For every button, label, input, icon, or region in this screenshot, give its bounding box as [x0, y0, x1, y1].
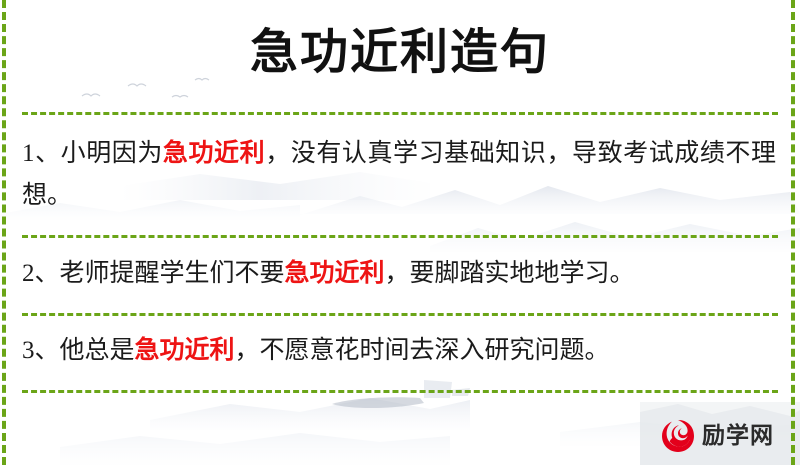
- sentence-item-2: 2、老师提醒学生们不要急功近利，要脚踏实地地学习。: [22, 253, 776, 295]
- keyword-highlight-1: 急功近利: [163, 140, 265, 167]
- divider-between-2-3: [22, 313, 778, 316]
- sentence-text-before-3: 他总是: [60, 337, 135, 364]
- sentence-index-1: 1、: [22, 140, 61, 167]
- site-logo[interactable]: 励学网: [660, 414, 782, 458]
- divider-top: [22, 112, 778, 115]
- sentence-index-3: 3、: [22, 337, 60, 364]
- divider-between-1-2: [22, 235, 778, 238]
- sentence-text-before-2: 老师提醒学生们不要: [60, 260, 285, 287]
- page-title: 急功近利造句: [0, 22, 800, 82]
- sentence-index-2: 2、: [22, 260, 60, 287]
- sentence-item-1: 1、小明因为急功近利，没有认真学习基础知识，导致考试成绩不理想。: [22, 133, 776, 217]
- site-logo-text: 励学网: [702, 425, 774, 448]
- keyword-highlight-3: 急功近利: [135, 337, 235, 364]
- sentence-item-3: 3、他总是急功近利，不愿意花时间去深入研究问题。: [22, 330, 776, 372]
- swirl-flame-icon: [660, 418, 696, 454]
- worksheet-page: 急功近利造句 1、小明因为急功近利，没有认真学习基础知识，导致考试成绩不理想。 …: [0, 0, 800, 465]
- sentence-text-after-2: ，要脚踏实地地学习。: [385, 260, 635, 287]
- keyword-highlight-2: 急功近利: [285, 260, 385, 287]
- sentence-text-before-1: 小明因为: [61, 140, 163, 167]
- divider-bottom: [22, 390, 778, 393]
- sentence-text-after-3: ，不愿意花时间去深入研究问题。: [235, 337, 610, 364]
